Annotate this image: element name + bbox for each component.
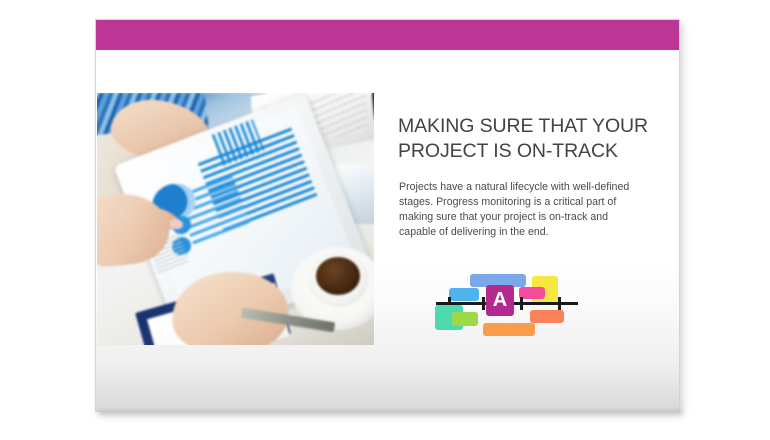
slide-header-band bbox=[96, 20, 679, 50]
timeline-tick bbox=[558, 297, 561, 310]
screenshot-canvas: MAKING SURE THAT YOUR PROJECT IS ON-TRAC… bbox=[0, 0, 770, 440]
presentation-slide[interactable]: MAKING SURE THAT YOUR PROJECT IS ON-TRAC… bbox=[95, 19, 680, 412]
timeline-milestone-label: A bbox=[486, 285, 514, 316]
slide-photo bbox=[97, 93, 374, 345]
timeline-graphic: A bbox=[430, 265, 582, 341]
slide-drop-shadow bbox=[99, 410, 683, 416]
slide-title: MAKING SURE THAT YOUR PROJECT IS ON-TRAC… bbox=[398, 114, 656, 164]
timeline-bar-blue-left bbox=[449, 288, 479, 301]
timeline-bar-salmon bbox=[530, 310, 564, 323]
timeline-bar-orange-bottom bbox=[483, 323, 535, 336]
slide-body-text: Projects have a natural lifecycle with w… bbox=[399, 180, 647, 240]
photo-blur-overlay bbox=[97, 93, 374, 345]
timeline-tick bbox=[482, 297, 485, 310]
timeline-bar-green-lime bbox=[452, 312, 478, 326]
timeline-tick bbox=[520, 297, 523, 310]
